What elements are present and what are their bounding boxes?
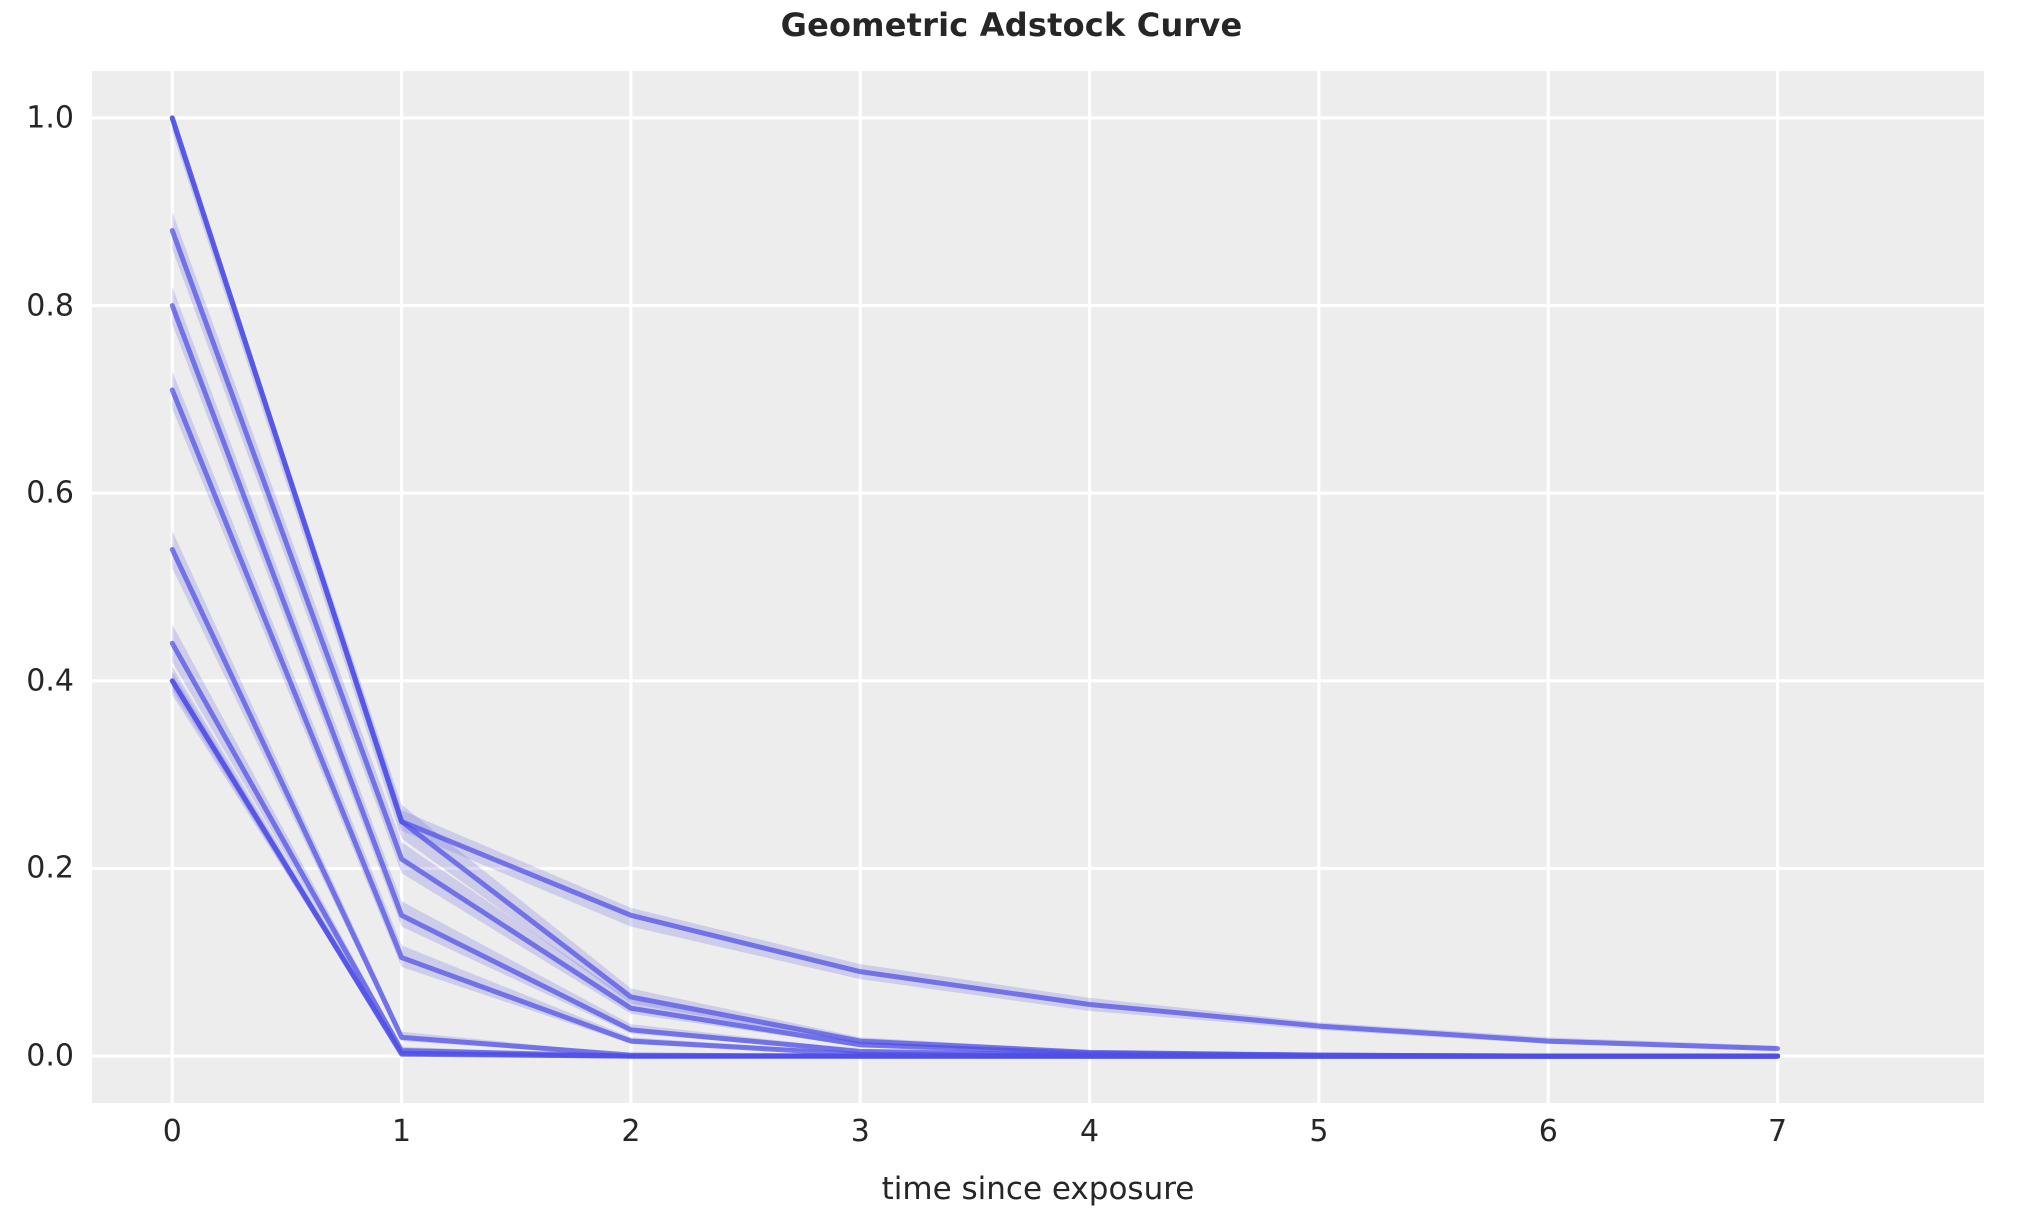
y-axis-tick-label: 0.2 [26,851,74,886]
plot-area [92,71,1984,1103]
y-axis-tick-label: 0.0 [26,1039,74,1074]
y-axis-tick-labels: 0.00.20.40.60.81.0 [0,0,74,1223]
figure-canvas: Geometric Adstock Curve 0.00.20.40.60.81… [0,0,2023,1223]
hdi-band [172,287,1777,1056]
x-axis-tick-label: 3 [851,1114,870,1149]
x-axis-tick-label: 0 [163,1114,182,1149]
x-axis-tick-label: 5 [1309,1114,1328,1149]
hdi-band [172,531,1777,1056]
y-axis-tick-label: 0.6 [26,476,74,511]
hdi-band [172,371,1777,1056]
series-line [172,549,1777,1056]
series-line [172,306,1777,1057]
x-axis-label: time since exposure [92,1171,1984,1207]
y-axis-tick-label: 0.4 [26,663,74,698]
y-axis-tick-label: 1.0 [26,100,74,135]
x-axis-tick-label: 7 [1768,1114,1787,1149]
x-axis-tick-label: 6 [1539,1114,1558,1149]
x-axis-tick-label: 1 [392,1114,411,1149]
series-line [172,230,1777,1056]
x-axis-tick-label: 4 [1080,1114,1099,1149]
chart-title: Geometric Adstock Curve [0,6,2023,44]
data-layer [92,71,1984,1103]
x-axis-tick-labels: 01234567 [0,1114,2023,1162]
x-axis-tick-label: 2 [621,1114,640,1149]
y-axis-tick-label: 0.8 [26,288,74,323]
